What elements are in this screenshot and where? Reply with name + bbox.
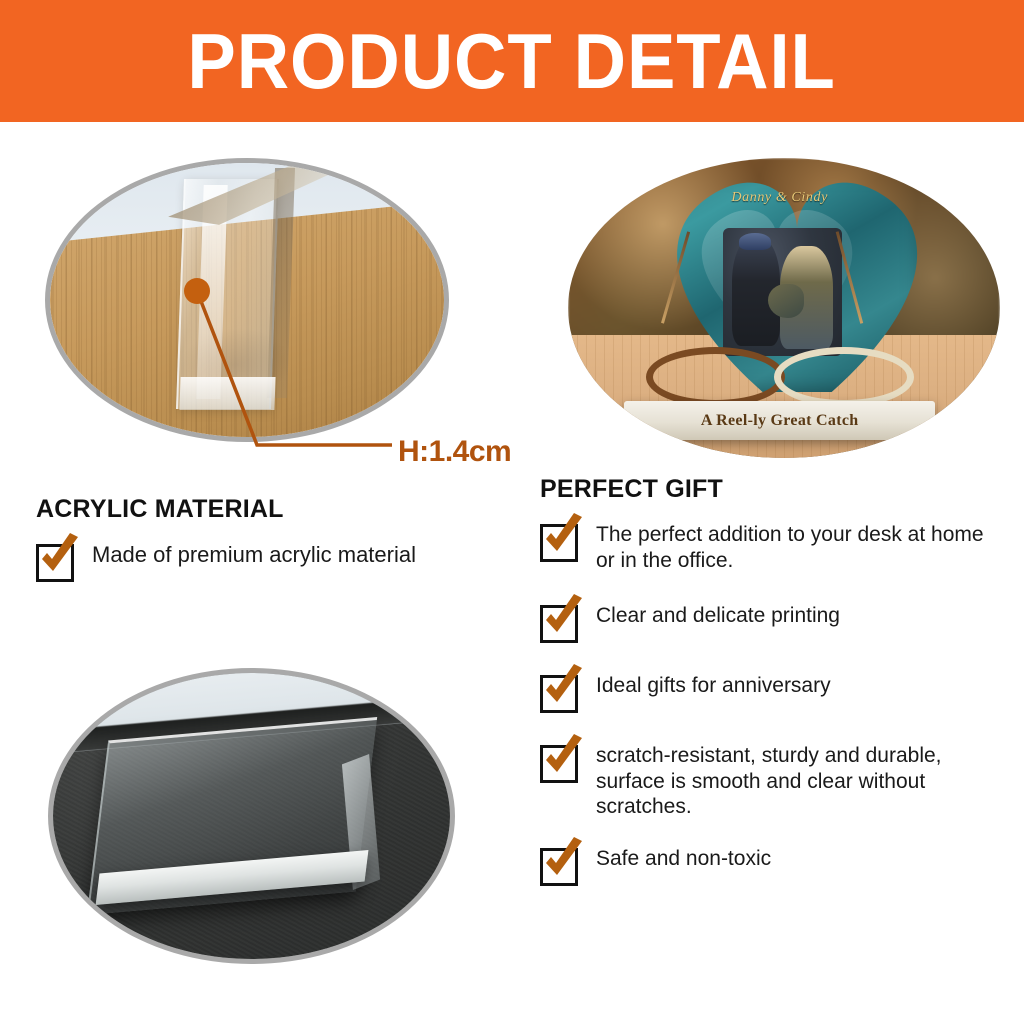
acrylic-feature-list: Made of premium acrylic material (36, 542, 516, 582)
infinity-loop-left (646, 347, 785, 407)
couple-name-text: Danny & Cindy (637, 190, 922, 206)
list-item: Ideal gifts for anniversary (540, 673, 1002, 713)
base-caption: A Reel-ly Great Catch (701, 412, 859, 430)
list-item: Safe and non-toxic (540, 846, 1002, 886)
acrylic-material-section: ACRYLIC MATERIAL Made of premium acrylic… (36, 495, 516, 608)
feature-text: Made of premium acrylic material (92, 542, 416, 569)
checkbox-checked-icon[interactable] (540, 745, 578, 783)
checkbox-checked-icon[interactable] (36, 544, 74, 582)
baseball-cap (739, 233, 770, 250)
perfect-gift-section: PERFECT GIFT The perfect addition to you… (540, 475, 1002, 912)
feature-text: scratch-resistant, sturdy and durable, s… (596, 743, 1002, 820)
thickness-label: H:1.4cm (398, 435, 511, 469)
feature-text: Ideal gifts for anniversary (596, 673, 831, 699)
list-item: The perfect addition to your desk at hom… (540, 522, 1002, 573)
list-item: Made of premium acrylic material (36, 542, 516, 582)
photo-acrylic-slab (48, 668, 455, 964)
gift-feature-list: The perfect addition to your desk at hom… (540, 522, 1002, 886)
photo-product-plaque: Danny & Cindy A Reel-ly Great Catch (568, 158, 1000, 458)
couple-photo (723, 228, 843, 357)
acrylic-section-heading: ACRYLIC MATERIAL (36, 495, 516, 524)
list-item: Clear and delicate printing (540, 603, 1002, 643)
acrylic-edge-scene (50, 163, 444, 437)
feature-text: Safe and non-toxic (596, 846, 771, 872)
fish-icon (768, 284, 804, 317)
gift-section-heading: PERFECT GIFT (540, 475, 1002, 504)
checkbox-checked-icon[interactable] (540, 675, 578, 713)
checkbox-checked-icon[interactable] (540, 605, 578, 643)
product-detail-page: PRODUCT DETAIL H:1.4cm (0, 0, 1024, 1024)
checkbox-checked-icon[interactable] (540, 524, 578, 562)
header-banner: PRODUCT DETAIL (0, 0, 1024, 122)
photo-acrylic-thickness (45, 158, 449, 442)
infinity-symbol (646, 347, 914, 407)
checkbox-checked-icon[interactable] (540, 848, 578, 886)
marble-base: A Reel-ly Great Catch (624, 401, 935, 440)
feature-text: The perfect addition to your desk at hom… (596, 522, 1002, 573)
page-title: PRODUCT DETAIL (188, 22, 836, 100)
acrylic-block-base-highlight (179, 377, 275, 410)
list-item: scratch-resistant, sturdy and durable, s… (540, 743, 1002, 820)
feature-text: Clear and delicate printing (596, 603, 840, 629)
infinity-loop-right (774, 347, 913, 407)
